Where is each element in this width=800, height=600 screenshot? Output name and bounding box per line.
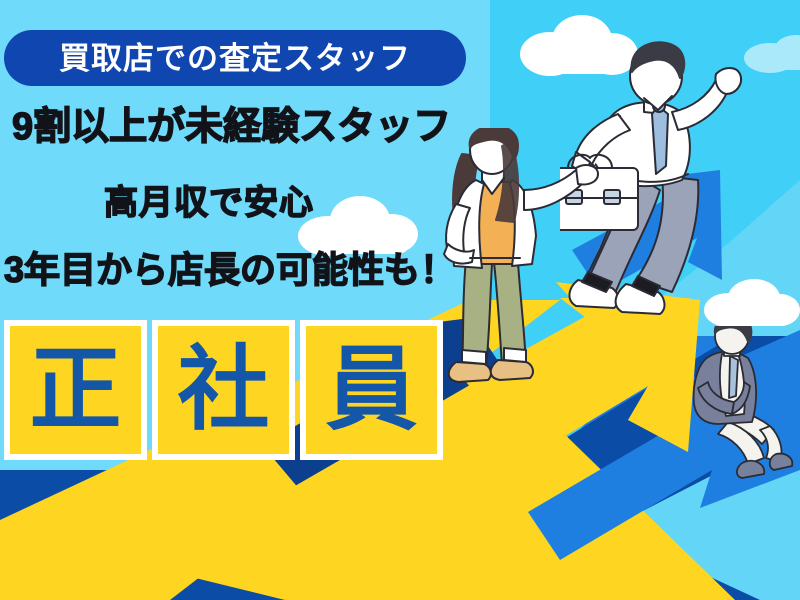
headline-line-2: 高月収で安心: [104, 186, 314, 220]
employment-type-badges: 正 社 員: [4, 320, 443, 460]
employment-badge-2: 社: [152, 320, 295, 460]
employment-badge-1-char: 正: [29, 344, 121, 436]
employment-badge-1: 正: [4, 320, 147, 460]
title-badge-label: 買取店での査定スタッフ: [59, 43, 411, 74]
employment-badge-2-fill: 社: [158, 326, 289, 454]
title-badge: 買取店での査定スタッフ: [4, 30, 466, 86]
headline-line-1: 9割以上が未経験スタッフ: [12, 108, 451, 146]
employment-badge-2-char: 社: [177, 344, 269, 436]
employment-badge-3: 員: [300, 320, 443, 460]
poster-canvas: 買取店での査定スタッフ 9割以上が未経験スタッフ 高月収で安心 3年目から店長の…: [0, 0, 800, 600]
employment-badge-3-fill: 員: [306, 326, 437, 454]
employment-badge-3-char: 員: [325, 344, 417, 436]
employment-badge-1-fill: 正: [10, 326, 141, 454]
man-sitting-illustration: [688, 326, 800, 486]
headline-line-3: 3年目から店長の可能性も！: [4, 252, 456, 288]
